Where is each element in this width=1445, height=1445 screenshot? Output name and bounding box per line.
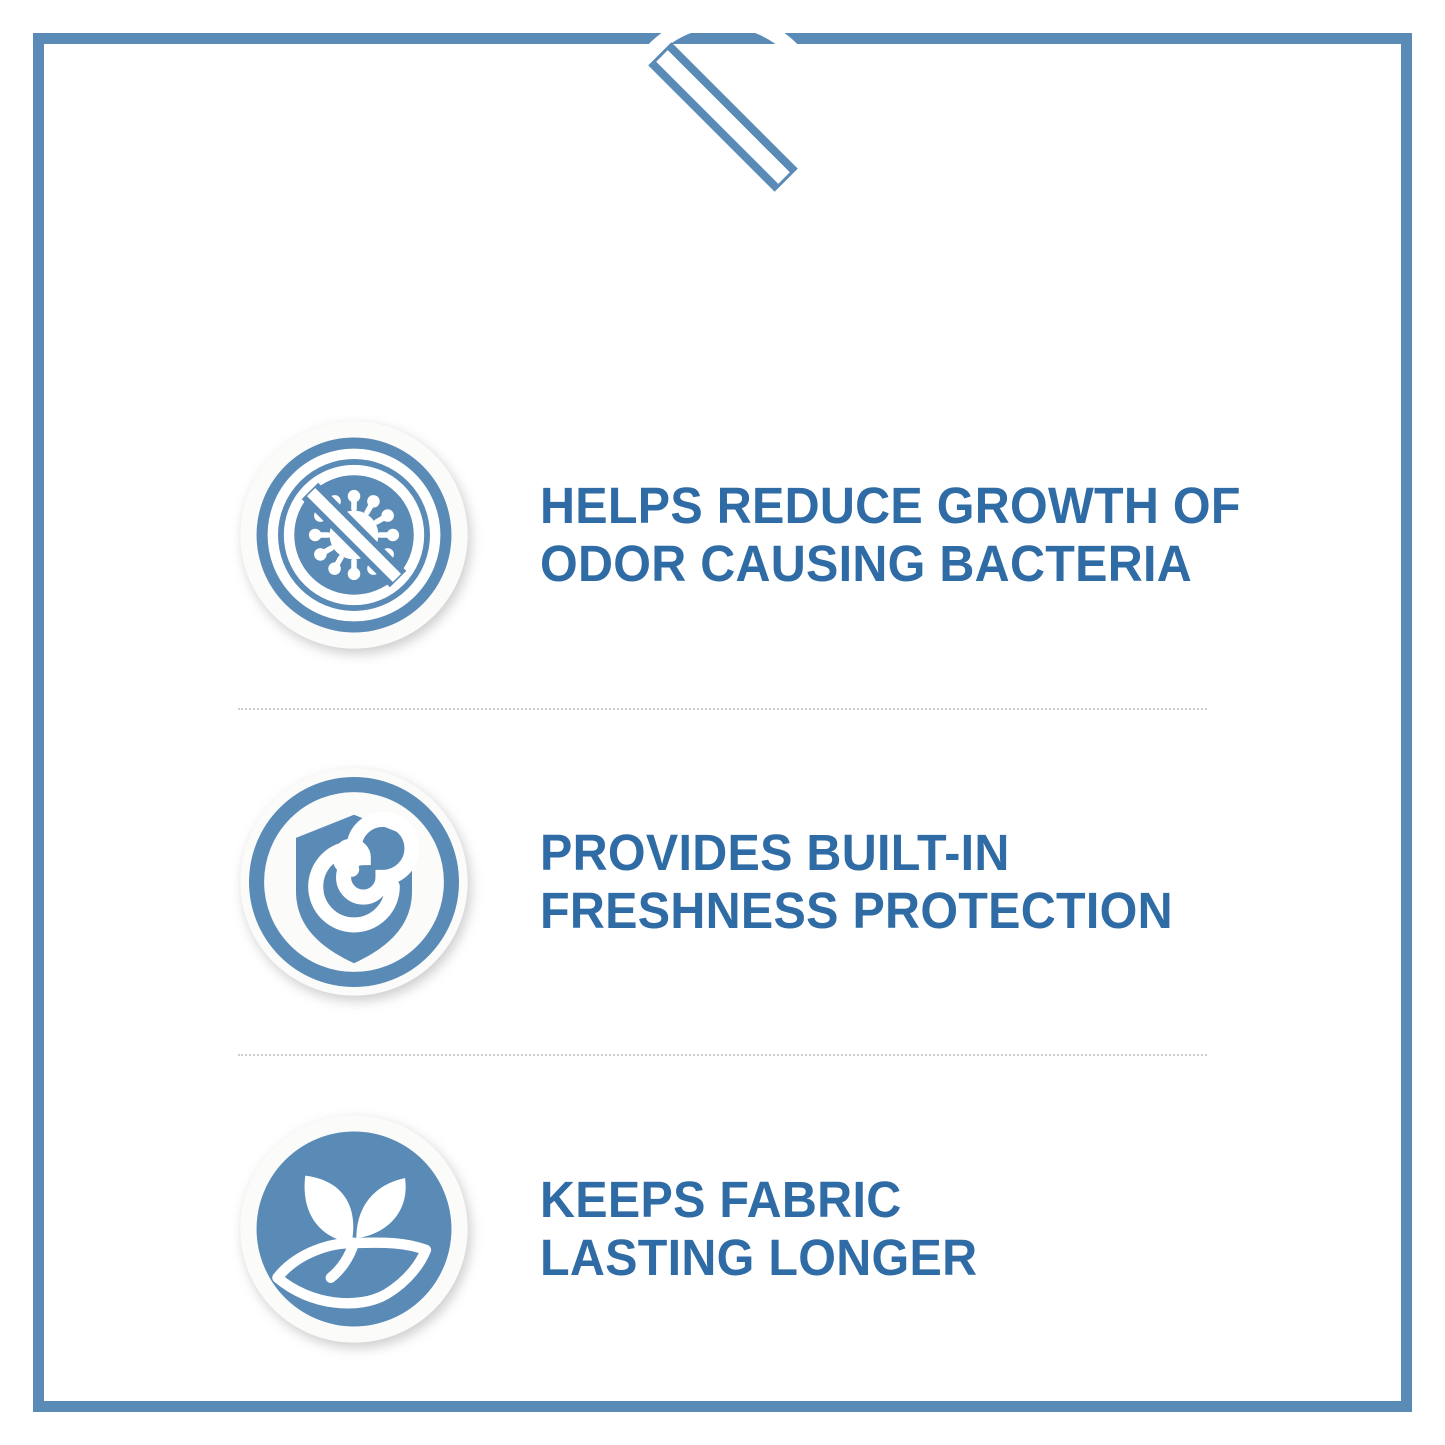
feature-text: PROVIDES BUILT-IN FRESHNESS PROTECTION	[540, 824, 1173, 940]
feature-line-1: PROVIDES BUILT-IN	[540, 824, 1010, 881]
feature-row: KEEPS FABRIC LASTING LONGER	[44, 1056, 1401, 1401]
shield-swirl-icon	[238, 766, 470, 998]
feature-line-2: ODOR CAUSING BACTERIA	[540, 535, 1241, 593]
feature-row: HELPS REDUCE GROWTH OF ODOR CAUSING BACT…	[44, 363, 1401, 708]
feature-line-1: HELPS REDUCE GROWTH OF	[540, 477, 1241, 534]
page-title: ANTIMICROBIAL	[81, 238, 1363, 319]
no-microbe-icon	[614, 8, 832, 226]
feature-text: KEEPS FABRIC LASTING LONGER	[540, 1171, 977, 1287]
feature-list: HELPS REDUCE GROWTH OF ODOR CAUSING BACT…	[44, 363, 1401, 1401]
feature-line-2: LASTING LONGER	[540, 1229, 977, 1287]
hero-icon-container	[0, 8, 1445, 226]
feature-line-2: FRESHNESS PROTECTION	[540, 882, 1173, 940]
no-microbe-icon	[238, 419, 470, 651]
feature-text: HELPS REDUCE GROWTH OF ODOR CAUSING BACT…	[540, 477, 1241, 593]
feature-line-1: KEEPS FABRIC	[540, 1171, 901, 1228]
feature-row: PROVIDES BUILT-IN FRESHNESS PROTECTION	[44, 710, 1401, 1055]
leaf-sprout-icon	[238, 1113, 470, 1345]
feature-panel: HELPS REDUCE GROWTH OF ODOR CAUSING BACT…	[44, 363, 1401, 1401]
antimicrobial-infographic: ANTIMICROBIAL	[0, 0, 1445, 1445]
